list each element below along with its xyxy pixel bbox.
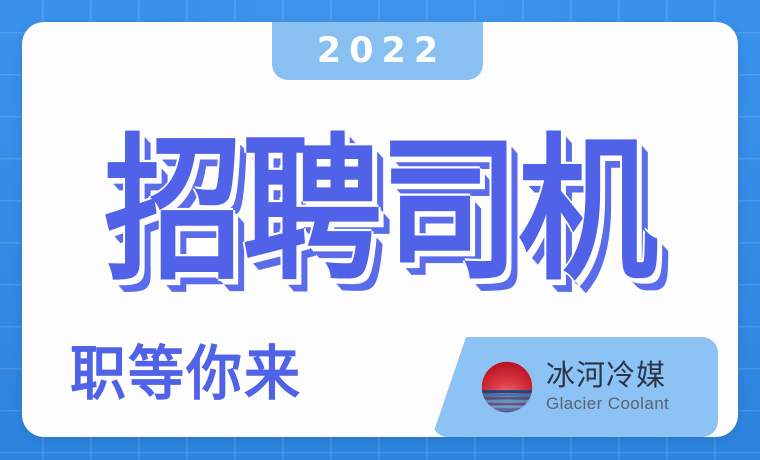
subline-container: 职等你来 — [70, 345, 302, 401]
subline-text: 职等你来 — [70, 345, 302, 404]
recruitment-poster: 2022 招聘司机 职等你来 — [0, 0, 760, 460]
year-badge: 2022 — [272, 22, 483, 80]
logo-text-block: 冰河冷媒 Glacier Coolant — [546, 360, 669, 414]
company-name-en: Glacier Coolant — [546, 393, 669, 414]
sunrise-over-water-logo-icon — [480, 360, 534, 414]
logo-banner: 冰河冷媒 Glacier Coolant — [432, 337, 718, 437]
year-badge-label: 2022 — [309, 34, 446, 69]
headline-container: 招聘司机 — [0, 122, 760, 302]
company-name-cn: 冰河冷媒 — [546, 360, 669, 390]
headline-text: 招聘司机 — [104, 134, 656, 291]
